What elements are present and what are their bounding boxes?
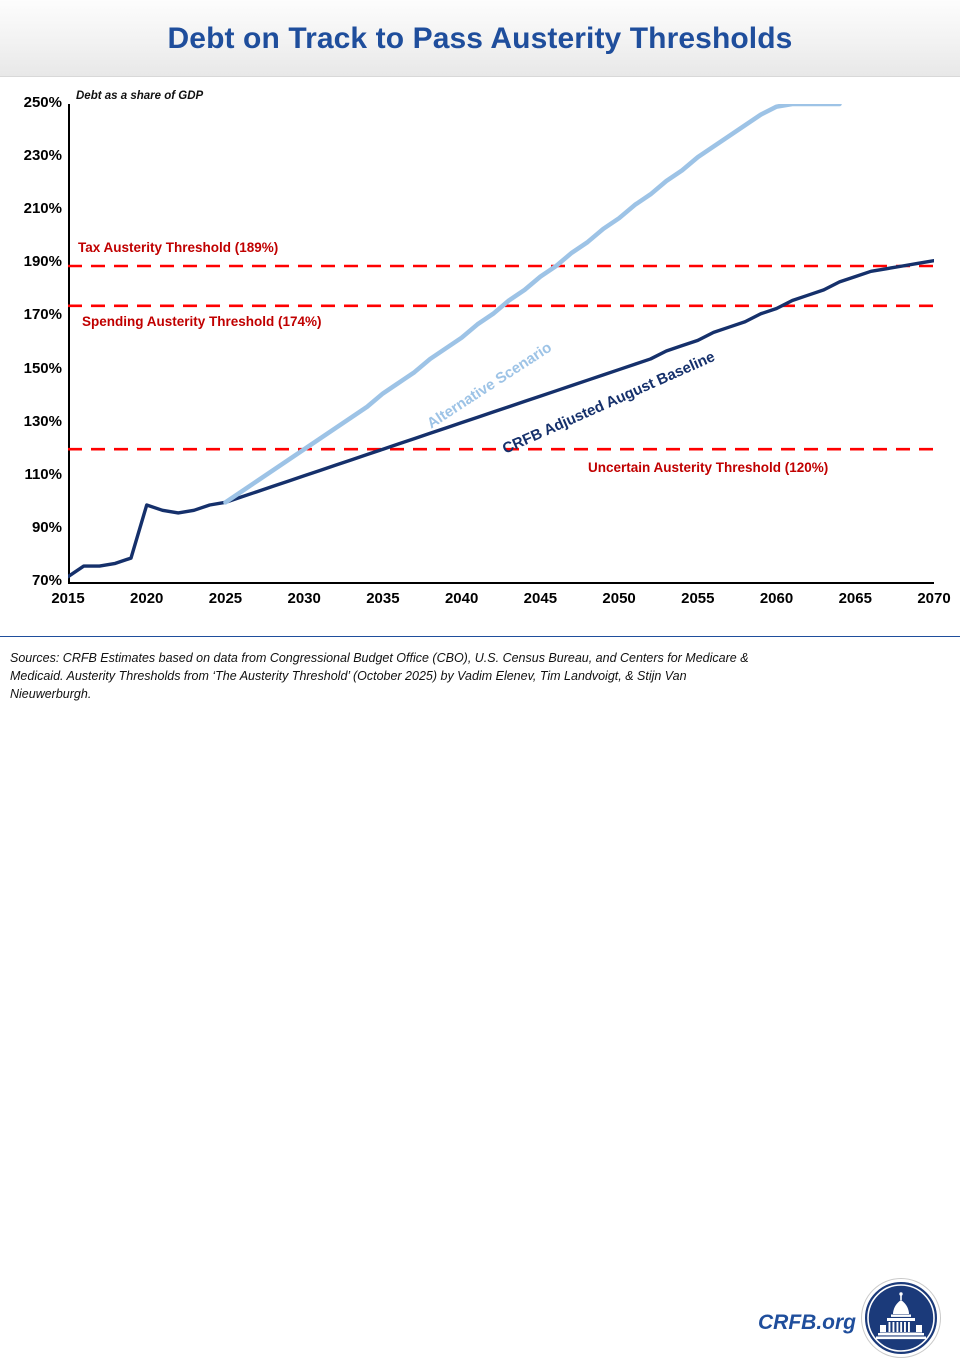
capitol-dome-icon xyxy=(862,1279,940,1357)
x-tick-label: 2030 xyxy=(269,590,339,607)
y-tick-label: 130% xyxy=(4,413,62,430)
y-tick-label: 110% xyxy=(4,466,62,483)
x-tick-label: 2060 xyxy=(742,590,812,607)
x-tick-label: 2055 xyxy=(663,590,733,607)
y-axis-ticks: 70%90%110%130%150%170%190%210%230%250% xyxy=(0,0,62,720)
threshold-label-uncertain: Uncertain Austerity Threshold (120%) xyxy=(588,460,828,475)
x-tick-label: 2050 xyxy=(584,590,654,607)
brand-text: CRFB.org xyxy=(744,1311,856,1335)
title-band: Debt on Track to Pass Austerity Threshol… xyxy=(0,0,960,77)
threshold-label-spending: Spending Austerity Threshold (174%) xyxy=(82,314,322,329)
sources-text: Sources: CRFB Estimates based on data fr… xyxy=(10,649,750,703)
y-tick-label: 190% xyxy=(4,253,62,270)
y-tick-label: 90% xyxy=(4,519,62,536)
page-title: Debt on Track to Pass Austerity Threshol… xyxy=(0,22,960,56)
y-tick-label: 70% xyxy=(4,572,62,589)
x-tick-label: 2035 xyxy=(348,590,418,607)
chart-subtitle: Debt as a share of GDP xyxy=(76,90,203,102)
x-axis-line xyxy=(68,582,934,584)
threshold-label-tax: Tax Austerity Threshold (189%) xyxy=(78,240,278,255)
capitol-dome-glyph xyxy=(865,1282,937,1354)
x-tick-label: 2025 xyxy=(190,590,260,607)
y-tick-label: 150% xyxy=(4,360,62,377)
y-tick-label: 230% xyxy=(4,147,62,164)
footer: Sources: CRFB Estimates based on data fr… xyxy=(0,636,960,721)
x-tick-label: 2020 xyxy=(112,590,182,607)
chart-plot-area xyxy=(68,104,934,582)
x-tick-label: 2040 xyxy=(427,590,497,607)
x-tick-label: 2065 xyxy=(820,590,890,607)
y-tick-label: 250% xyxy=(4,94,62,111)
x-tick-label: 2045 xyxy=(505,590,575,607)
y-tick-label: 170% xyxy=(4,306,62,323)
y-tick-label: 210% xyxy=(4,200,62,217)
x-tick-label: 2015 xyxy=(33,590,103,607)
x-tick-label: 2070 xyxy=(899,590,960,607)
